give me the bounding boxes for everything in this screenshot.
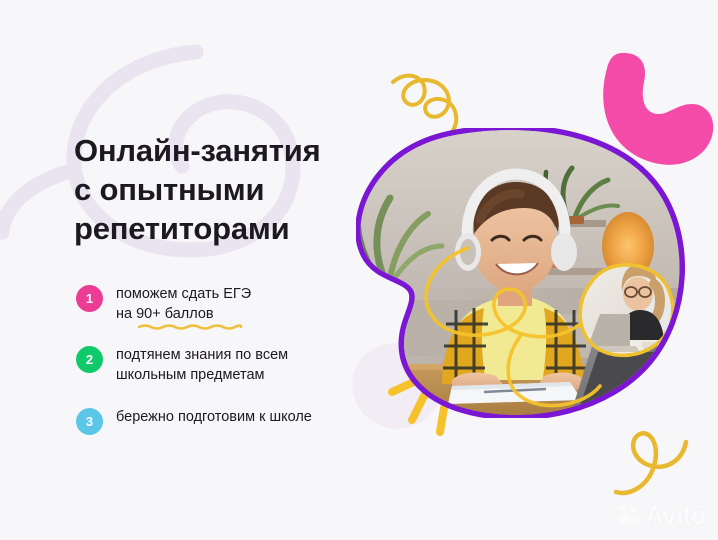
feature-number-badge-1: 1 xyxy=(76,285,103,312)
headline-line-1: Онлайн-занятия xyxy=(74,131,364,170)
feature-line-1a: поможем сдать ЕГЭ xyxy=(116,285,251,305)
feature-line-1b: на 90+ баллов xyxy=(116,305,251,325)
feature-highlight: 90+ баллов xyxy=(136,306,214,322)
page-title: Онлайн-занятия с опытными репетиторами xyxy=(74,131,364,248)
feature-line-1b-prefix: на xyxy=(116,306,136,322)
feature-text-2: подтянем знания по всем школьным предмет… xyxy=(116,345,288,385)
list-item: 1 поможем сдать ЕГЭ на 90+ баллов xyxy=(76,284,386,324)
avito-watermark: Avito xyxy=(618,502,706,528)
feature-number-badge-3: 3 xyxy=(76,408,103,435)
headline-line-2: с опытными xyxy=(74,170,364,209)
feature-list: 1 поможем сдать ЕГЭ на 90+ баллов 2 подт… xyxy=(76,284,386,435)
wavy-underline-icon xyxy=(138,323,242,330)
avito-logo-icon xyxy=(618,504,642,526)
squiggle-decoration-top xyxy=(393,76,456,132)
list-item: 3 бережно подготовим к школе xyxy=(76,407,386,435)
promo-banner: Онлайн-занятия с опытными репетиторами 1… xyxy=(0,0,718,540)
feature-line-3a: бережно подготовим к школе xyxy=(116,408,312,428)
headphone-earcup-right xyxy=(551,233,577,271)
feature-number-badge-2: 2 xyxy=(76,346,103,373)
squiggle-decoration-bottom xyxy=(616,433,686,493)
feature-line-2a: подтянем знания по всем xyxy=(116,346,288,366)
feature-text-1: поможем сдать ЕГЭ на 90+ баллов xyxy=(116,284,251,324)
list-item: 2 подтянем знания по всем школьным предм… xyxy=(76,345,386,385)
headline-line-3: репетиторами xyxy=(74,209,364,248)
feature-text-3: бережно подготовим к школе xyxy=(116,407,312,428)
feature-line-2b: школьным предметам xyxy=(116,366,288,386)
student-photo xyxy=(356,128,692,418)
tutor-head xyxy=(623,277,653,311)
avito-wordmark: Avito xyxy=(645,502,706,528)
